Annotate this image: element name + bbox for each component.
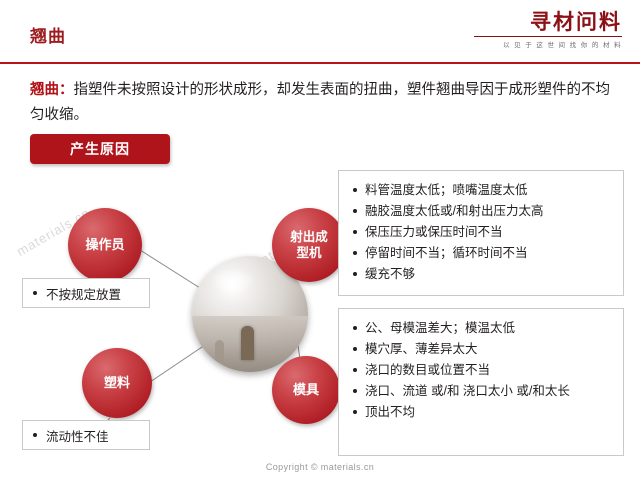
right-list-mold: 公、母模温差大；模温太低 模穴厚、薄差异太大 浇口的数目或位置不当 浇口、流道 … [338,308,624,456]
footer-copyright: Copyright © materials.cn [0,462,640,472]
list-item: 保压压力或保压时间不当 [351,222,613,243]
node-operator-label: 操作员 [85,237,124,253]
right-list-2: 公、母模温差大；模温太低 模穴厚、薄差异太大 浇口的数目或位置不当 浇口、流道 … [351,318,613,423]
list-item: 模穴厚、薄差异太大 [351,339,613,360]
list-item: 融胶温度太低或/和射出压力太高 [351,201,613,222]
bullet-icon [33,291,37,295]
left-note-operator: 不按规定放置 [22,278,150,308]
left-note-plastic-text: 流动性不佳 [46,426,109,445]
list-item: 停留时间不当；循环时间不当 [351,243,613,264]
right-list-1: 料管温度太低；喷嘴温度太低 融胶温度太低或/和射出压力太高 保压压力或保压时间不… [351,180,613,285]
list-item: 缓充不够 [351,264,613,285]
list-item: 浇口、流道 或/和 浇口太小 或/和太长 [351,381,613,402]
node-injection-machine[interactable]: 射出成 型机 [272,208,346,282]
node-injection-machine-label-line1: 射出成 [290,230,328,244]
list-item: 公、母模温差大；模温太低 [351,318,613,339]
node-injection-machine-label: 射出成 型机 [290,229,328,261]
node-operator[interactable]: 操作员 [68,208,142,282]
left-note-plastic: 流动性不佳 [22,420,150,450]
sphere-detail-small [215,340,224,362]
node-plastic[interactable]: 塑料 [82,348,152,418]
list-item: 顶出不均 [351,402,613,423]
node-plastic-label: 塑料 [104,375,130,391]
node-mold[interactable]: 模具 [272,356,340,424]
sphere-highlight [211,268,255,294]
left-note-operator-text: 不按规定放置 [46,284,121,303]
node-mold-label: 模具 [293,382,319,398]
node-injection-machine-label-line2: 型机 [296,246,321,260]
slide-root: 翘曲 寻材问料 以 见 于 这 世 间 找 你 的 材 料 翘曲：指塑件未按照设… [0,0,640,480]
right-list-injection-machine: 料管温度太低；喷嘴温度太低 融胶温度太低或/和射出压力太高 保压压力或保压时间不… [338,170,624,296]
list-item: 料管温度太低；喷嘴温度太低 [351,180,613,201]
bullet-icon [33,433,37,437]
sphere-detail [241,326,254,360]
list-item: 浇口的数目或位置不当 [351,360,613,381]
